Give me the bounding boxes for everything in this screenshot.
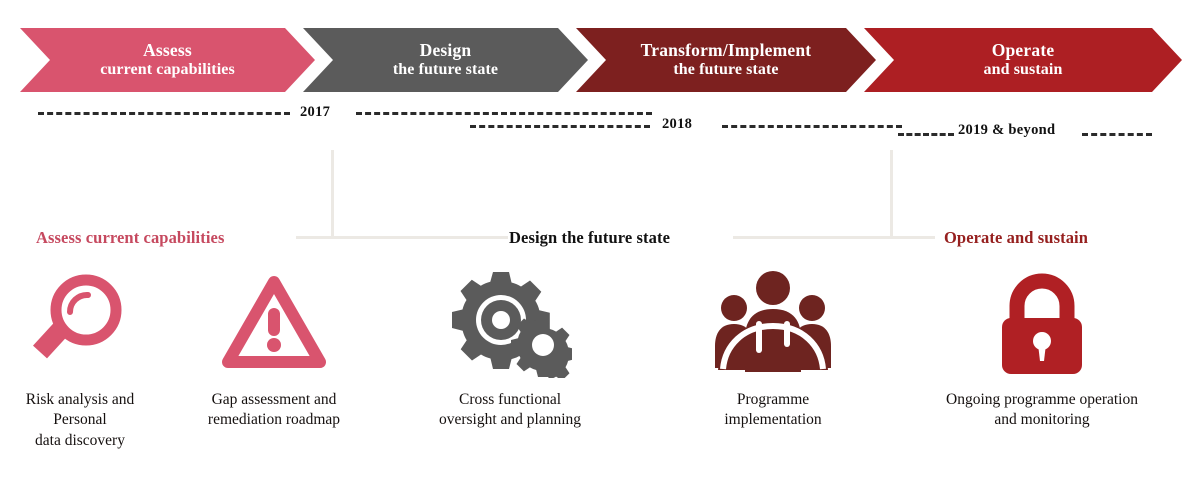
timeline-year-2019-beyond: 2019 & beyond [958, 122, 1055, 139]
card-ongoing-operation-caption: Ongoing programme operation and monitori… [902, 390, 1182, 431]
phase-chevron-design-title: Design [420, 41, 472, 61]
phase-chevron-assess[interactable]: Assess current capabilities [20, 28, 315, 92]
card-gap-assessment[interactable]: Gap assessment and remediation roadmap [186, 262, 362, 431]
timeline-axis: 2017 2018 2019 & beyond [0, 100, 1182, 144]
timeline-dash-segment-1 [38, 112, 290, 115]
phase-chevron-assess-title: Assess [143, 41, 192, 61]
phase-chevron-transform[interactable]: Transform/Implement the future state [576, 28, 876, 92]
warning-triangle-icon [218, 262, 330, 382]
card-ongoing-operation[interactable]: Ongoing programme operation and monitori… [902, 262, 1182, 431]
phase-header-assess: Assess current capabilities [36, 228, 224, 248]
timeline-dash-segment-6 [1082, 133, 1152, 136]
timeline-year-2017: 2017 [300, 104, 330, 121]
phase-chevron-operate-subtitle: and sustain [984, 61, 1063, 79]
infographic-roadmap: Assess current capabilities Design the f… [0, 0, 1182, 490]
phase-chevron-design[interactable]: Design the future state [303, 28, 588, 92]
phase-chevron-design-subtitle: the future state [393, 61, 498, 79]
card-programme-implementation-caption: Programme implementation [683, 390, 863, 431]
padlock-icon [986, 262, 1098, 382]
card-risk-analysis[interactable]: Risk analysis and Personal data discover… [0, 262, 160, 451]
timeline-year-2018: 2018 [662, 116, 692, 133]
timeline-dash-segment-4 [722, 125, 902, 128]
card-cross-functional[interactable]: Cross functional oversight and planning [418, 262, 602, 431]
rail-tick-right [890, 150, 893, 238]
phase-chevron-banner: Assess current capabilities Design the f… [0, 28, 1182, 92]
rail-line-design-to-operate [733, 236, 935, 239]
deliverable-card-list: Risk analysis and Personal data discover… [0, 262, 1182, 462]
phase-chevron-operate[interactable]: Operate and sustain [864, 28, 1182, 92]
phase-header-operate: Operate and sustain [944, 228, 1088, 248]
timeline-dash-segment-3 [470, 125, 650, 128]
card-gap-assessment-caption: Gap assessment and remediation roadmap [186, 390, 362, 431]
phase-chevron-assess-subtitle: current capabilities [100, 61, 235, 79]
gears-icon [448, 262, 572, 382]
phase-chevron-transform-title: Transform/Implement [641, 41, 812, 61]
rail-line-assess-to-design [296, 236, 508, 239]
card-risk-analysis-caption: Risk analysis and Personal data discover… [0, 390, 160, 451]
phase-chevron-operate-title: Operate [992, 41, 1055, 61]
people-group-icon [714, 262, 832, 382]
phase-header-design: Design the future state [509, 228, 670, 248]
magnifier-icon [24, 262, 136, 382]
timeline-dash-segment-5 [898, 133, 954, 136]
rail-tick-left [331, 150, 334, 238]
phase-chevron-transform-subtitle: the future state [673, 61, 778, 79]
timeline-dash-segment-2 [356, 112, 652, 115]
card-programme-implementation[interactable]: Programme implementation [683, 262, 863, 431]
card-cross-functional-caption: Cross functional oversight and planning [418, 390, 602, 431]
